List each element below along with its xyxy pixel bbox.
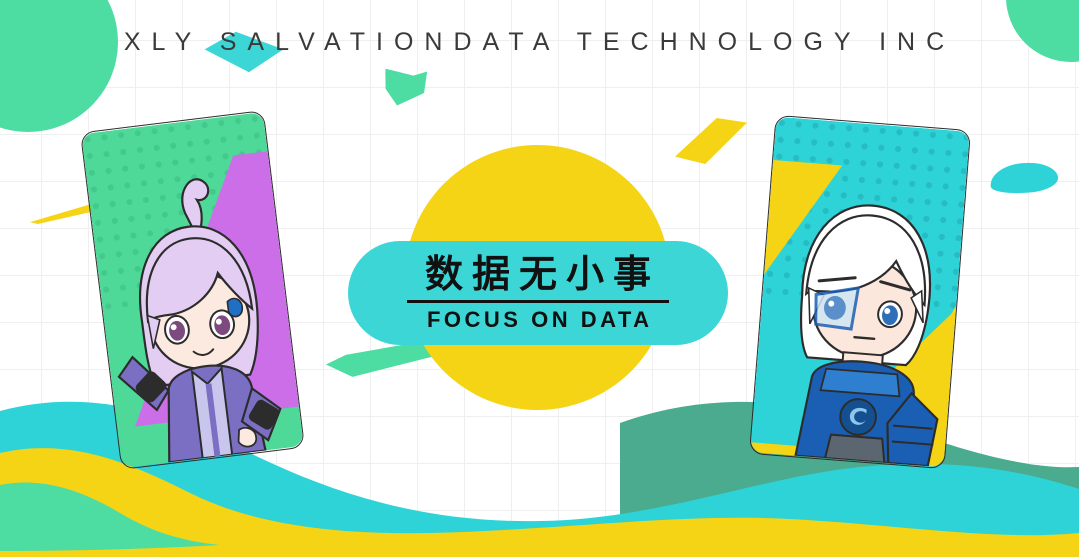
character-card-right[interactable] <box>749 115 971 469</box>
poster-canvas: XLY SALVATIONDATA TECHNOLOGY INC 数据无小事 F… <box>0 0 1079 557</box>
badge-headline-cn: 数据无小事 <box>416 255 660 293</box>
focus-badge[interactable]: 数据无小事 FOCUS ON DATA <box>348 241 728 345</box>
header: XLY SALVATIONDATA TECHNOLOGY INC <box>0 28 1079 57</box>
badge-divider <box>407 300 669 303</box>
card-right-artwork <box>750 116 970 468</box>
company-name: XLY SALVATIONDATA TECHNOLOGY INC <box>0 28 1079 57</box>
badge-headline-en: FOCUS ON DATA <box>423 309 652 331</box>
